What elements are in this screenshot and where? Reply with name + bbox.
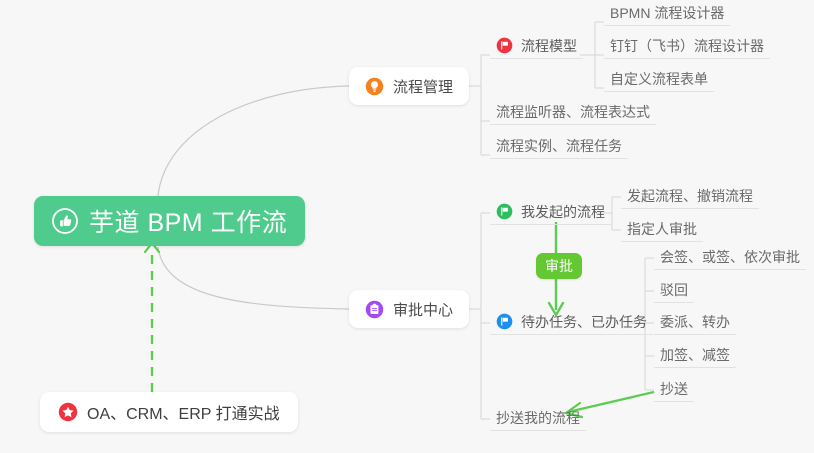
node-instance-task[interactable]: 流程实例、流程任务: [490, 133, 628, 159]
thumbs-up-icon: [52, 208, 78, 234]
branch-label: 审批中心: [393, 299, 453, 320]
node-bpmn-designer[interactable]: BPMN 流程设计器: [604, 0, 730, 26]
dashed-arrow-practice-to-root: [145, 243, 159, 392]
node-label: 钉钉（飞书）流程设计器: [610, 39, 764, 54]
clipboard-icon: [365, 300, 384, 319]
node-label: 抄送: [660, 382, 688, 397]
node-label: 抄送我的流程: [496, 411, 580, 426]
node-label: 我发起的流程: [521, 205, 605, 220]
node-countersign[interactable]: 会签、或签、依次审批: [654, 244, 806, 270]
mindmap-canvas: 芋道 BPM 工作流 流程管理 流程模型 BPMN 流程设计器 钉钉（飞书）流程: [0, 0, 814, 453]
node-label: 流程实例、流程任务: [496, 139, 622, 154]
star-icon: [58, 402, 78, 422]
practice-node[interactable]: OA、CRM、ERP 打通实战: [40, 392, 298, 432]
node-cc-to-me-process[interactable]: 抄送我的流程: [490, 405, 586, 431]
node-add-remove-sign[interactable]: 加签、减签: [654, 342, 736, 368]
node-label: 流程模型: [521, 39, 577, 54]
node-process-model[interactable]: 流程模型: [490, 33, 583, 59]
node-my-initiated-process[interactable]: 我发起的流程: [490, 199, 611, 225]
node-start-cancel-process[interactable]: 发起流程、撤销流程: [621, 183, 759, 209]
root-label: 芋道 BPM 工作流: [89, 203, 287, 239]
flag-icon: [496, 313, 513, 330]
branch-label: 流程管理: [393, 76, 453, 97]
node-assignee-approval[interactable]: 指定人审批: [621, 216, 703, 242]
node-cc[interactable]: 抄送: [654, 376, 694, 402]
approval-badge-label: 审批: [545, 258, 573, 274]
link-root-to-process-management: [158, 86, 349, 196]
approval-badge: 审批: [536, 253, 582, 279]
node-reject[interactable]: 驳回: [654, 277, 694, 303]
node-label: 指定人审批: [627, 222, 697, 237]
node-label: 驳回: [660, 283, 688, 298]
node-label: 自定义流程表单: [610, 72, 708, 87]
practice-node-label: OA、CRM、ERP 打通实战: [87, 400, 280, 424]
root-node[interactable]: 芋道 BPM 工作流: [34, 196, 305, 246]
lightbulb-icon: [365, 77, 384, 96]
node-label: BPMN 流程设计器: [610, 6, 724, 21]
node-label: 流程监听器、流程表达式: [496, 105, 650, 120]
node-label: 委派、转办: [660, 315, 730, 330]
node-custom-process-form[interactable]: 自定义流程表单: [604, 66, 714, 92]
node-label: 待办任务、已办任务: [521, 315, 647, 330]
branch-approval-center[interactable]: 审批中心: [349, 290, 469, 328]
node-todo-done-task[interactable]: 待办任务、已办任务: [490, 309, 653, 335]
node-label: 发起流程、撤销流程: [627, 189, 753, 204]
node-label: 加签、减签: [660, 348, 730, 363]
node-dingtalk-feishu-designer[interactable]: 钉钉（飞书）流程设计器: [604, 33, 770, 59]
node-listener-expression[interactable]: 流程监听器、流程表达式: [490, 99, 656, 125]
branch-process-management[interactable]: 流程管理: [349, 67, 469, 105]
flag-icon: [496, 203, 513, 220]
link-root-to-approval-center: [158, 247, 349, 309]
node-delegate-transfer[interactable]: 委派、转办: [654, 309, 736, 335]
flag-icon: [496, 37, 513, 54]
node-label: 会签、或签、依次审批: [660, 250, 800, 265]
